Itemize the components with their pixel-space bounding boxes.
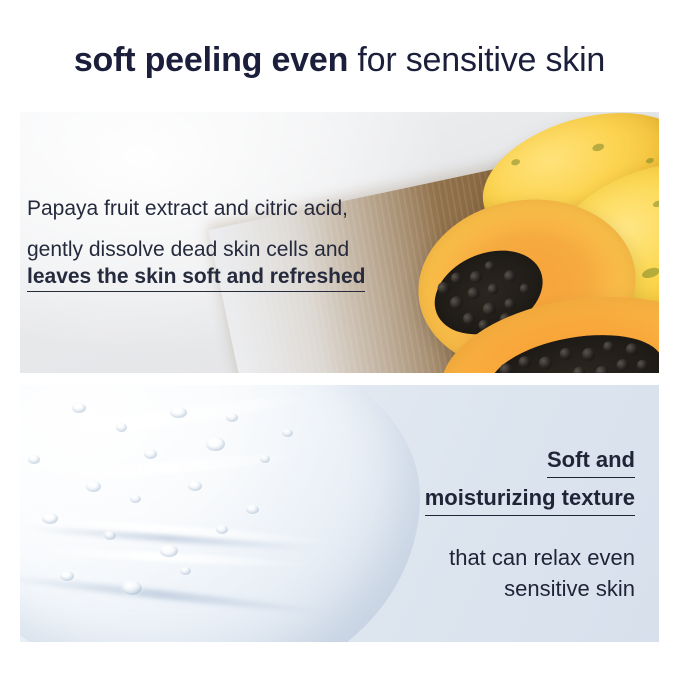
gel-text-line-4: sensitive skin [335, 573, 635, 604]
gel-text-line-3: that can relax even [335, 542, 635, 573]
headline-light-text: for sensitive skin [357, 41, 605, 79]
gel-text-line-1: Soft and [335, 445, 635, 478]
papaya-text-line-2: gently dissolve dead skin cells and [27, 236, 387, 263]
product-marketing-banner: soft peeling even for sensitive skin [0, 0, 679, 679]
gel-text-block: Soft and moisturizing texture that can r… [335, 445, 635, 604]
papaya-panel: Papaya fruit extract and citric acid, ge… [20, 112, 659, 373]
page-title: soft peeling even for sensitive skin [0, 40, 679, 80]
papaya-text-line-3: leaves the skin soft and refreshed [27, 263, 365, 292]
papaya-seed-cavity [482, 323, 659, 373]
gel-text-line-2: moisturizing texture [335, 483, 635, 516]
gel-texture-panel: Soft and moisturizing texture that can r… [20, 385, 659, 642]
papaya-text-block: Papaya fruit extract and citric acid, ge… [27, 194, 387, 292]
papaya-text-line-1: Papaya fruit extract and citric acid, [27, 194, 387, 224]
headline-bold-text: soft peeling even [74, 41, 348, 79]
